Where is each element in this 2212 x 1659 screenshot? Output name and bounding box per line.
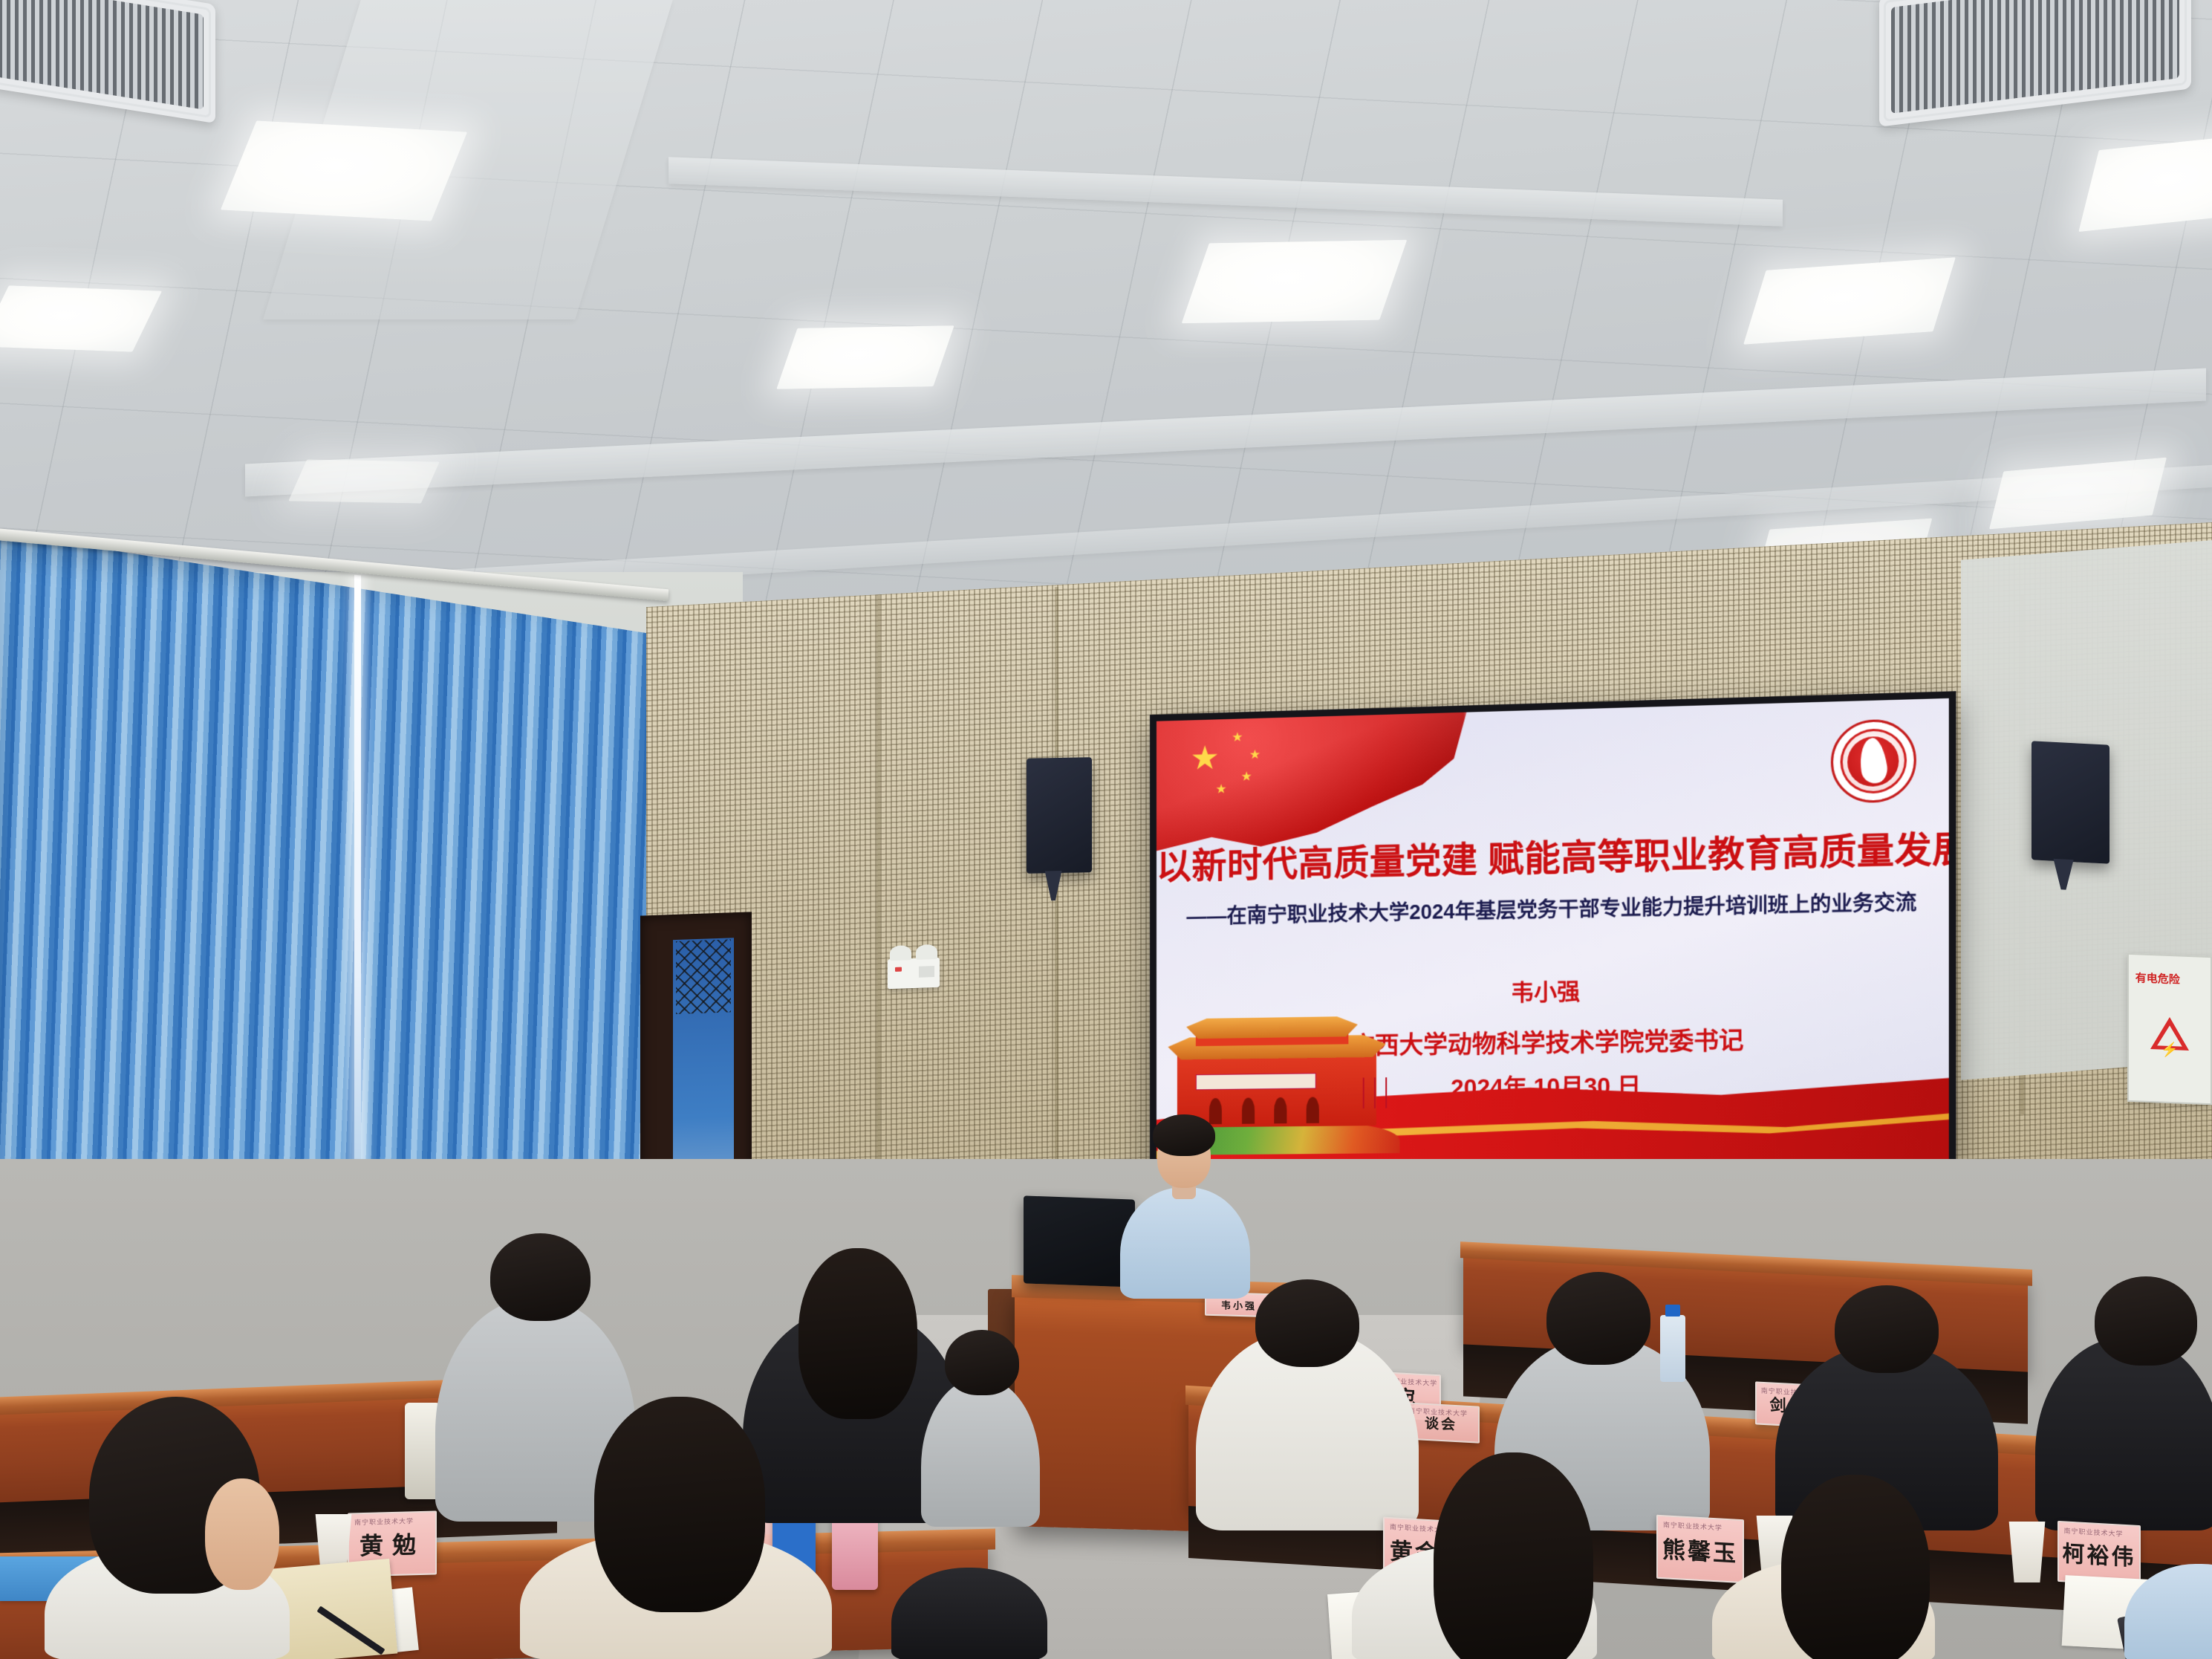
ceiling-light-panel <box>221 120 467 221</box>
nameplate-name: 柯裕伟 <box>2063 1535 2136 1572</box>
flag-star-small: ★ <box>1241 770 1252 782</box>
pa-speaker-icon <box>1027 757 1092 874</box>
water-bottle <box>1660 1315 1685 1382</box>
ceiling-light-panel <box>776 325 954 389</box>
pa-speaker-icon <box>2032 741 2109 864</box>
flag-star-small: ★ <box>1232 730 1243 744</box>
attendee-head <box>2095 1276 2197 1366</box>
attendee-head <box>1781 1475 1930 1659</box>
podium-nameplate-text: 韦小强 <box>1221 1297 1257 1312</box>
attendee-face <box>205 1478 279 1590</box>
attendee-head <box>1434 1452 1593 1659</box>
nameplate-name: 黄勉 <box>360 1526 425 1562</box>
conference-room-photo: 有电危险 ⚡ ★ ★ ★ ★ ★ 以新时代高质量党建 赋能高等职业教育高质量发展… <box>0 0 2212 1659</box>
attendee-head <box>1255 1279 1359 1367</box>
podium-monitor[interactable] <box>1024 1195 1135 1287</box>
pink-tumbler <box>832 1512 878 1590</box>
emergency-light-icon <box>888 958 940 989</box>
attendee-head <box>945 1330 1019 1395</box>
nameplate: 南宁职业技术大学 熊馨玉 <box>1656 1515 1744 1584</box>
lightning-bolt-icon: ⚡ <box>2161 1040 2179 1059</box>
attendee-head <box>1835 1285 1939 1373</box>
nameplate-name: 熊馨玉 <box>1662 1530 1738 1568</box>
nameplate-header: 南宁职业技术大学 <box>354 1516 414 1527</box>
attendee-head <box>594 1397 765 1612</box>
attendee-head <box>490 1233 591 1321</box>
ceiling-light-panel <box>288 459 440 503</box>
attendee-head <box>1546 1272 1650 1365</box>
warning-sign-text: 有电危险 <box>2135 970 2180 987</box>
ceiling-light-panel <box>1743 257 1956 344</box>
university-emblem-icon <box>1831 718 1916 804</box>
attendee-head <box>798 1248 917 1419</box>
slide-subtitle: ——在南宁职业技术大学2024年基层党务干部专业能力提升培训班上的业务交流 <box>1157 885 1949 930</box>
presenter-hair <box>1153 1114 1215 1156</box>
led-display-screen[interactable]: ★ ★ ★ ★ ★ 以新时代高质量党建 赋能高等职业教育高质量发展 ——在南宁职… <box>1150 691 1956 1175</box>
ceiling-light-panel <box>1182 240 1408 324</box>
flag-star-small: ★ <box>1249 748 1260 762</box>
flag-star-large: ★ <box>1190 741 1219 775</box>
slide-surface: ★ ★ ★ ★ ★ 以新时代高质量党建 赋能高等职业教育高质量发展 ——在南宁职… <box>1157 698 1949 1169</box>
electrical-hazard-sign: 有电危险 ⚡ <box>2127 953 2212 1105</box>
flag-star-small: ★ <box>1215 782 1226 795</box>
